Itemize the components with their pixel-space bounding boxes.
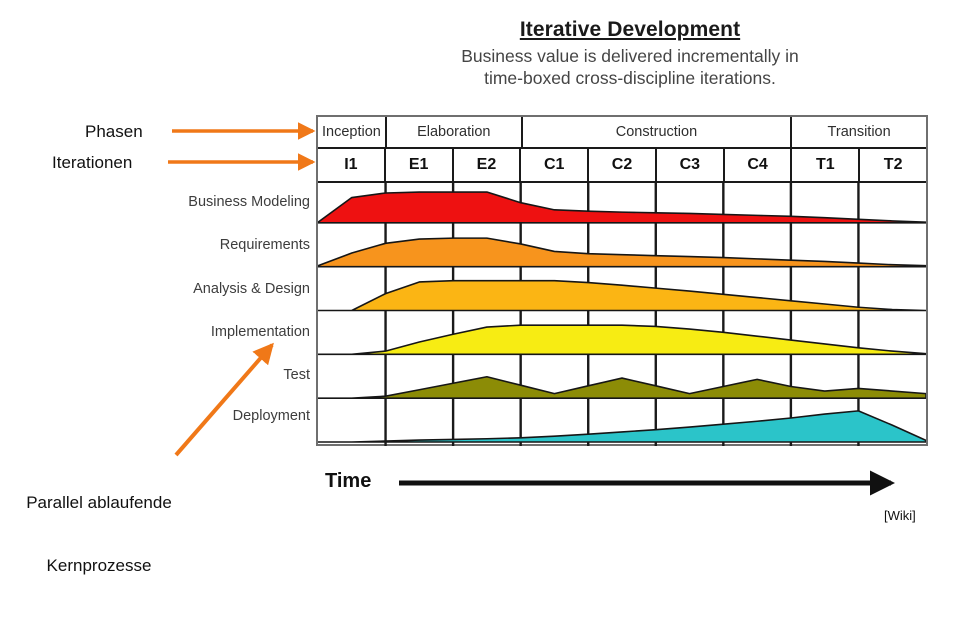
diagram-canvas: Iterative Development Business value is …: [0, 0, 957, 549]
discipline-label-column: Business Modeling Requirements Analysis …: [130, 0, 310, 549]
discipline-label-implementation: Implementation: [130, 324, 310, 340]
annotation-iterations-label: Iterationen: [52, 152, 132, 173]
iteration-cell-i1[interactable]: I1: [318, 149, 386, 181]
iteration-cell-c4[interactable]: C4: [725, 149, 793, 181]
discipline-label-requirements: Requirements: [130, 237, 310, 253]
discipline-label-test: Test: [130, 367, 310, 383]
iteration-cell-c2[interactable]: C2: [589, 149, 657, 181]
iteration-cell-t1[interactable]: T1: [792, 149, 860, 181]
phase-header-row: InceptionElaborationConstructionTransiti…: [318, 117, 926, 149]
area-band-implementation[interactable]: [318, 325, 926, 354]
discipline-areas-group: [318, 192, 926, 442]
iteration-header-row: I1E1E2C1C2C3C4T1T2: [318, 149, 926, 183]
page-title: Iterative Development: [310, 18, 950, 41]
area-band-requirements[interactable]: [318, 238, 926, 267]
subtitle-line-2: time-boxed cross-discipline iterations.: [310, 67, 950, 89]
workflow-plot-area: [318, 183, 926, 446]
iteration-cell-c3[interactable]: C3: [657, 149, 725, 181]
discipline-label-deployment: Deployment: [130, 408, 310, 424]
iteration-cell-e2[interactable]: E2: [454, 149, 522, 181]
phase-cell-elaboration[interactable]: Elaboration: [387, 117, 523, 147]
discipline-label-business-modeling: Business Modeling: [130, 194, 310, 210]
source-credit: [Wiki]: [884, 508, 916, 523]
phase-cell-inception[interactable]: Inception: [318, 117, 387, 147]
time-axis-label: Time: [325, 470, 371, 493]
iteration-chart-frame: InceptionElaborationConstructionTransiti…: [316, 115, 928, 446]
iteration-cell-c1[interactable]: C1: [521, 149, 589, 181]
phase-cell-construction[interactable]: Construction: [523, 117, 793, 147]
area-band-analysis-design[interactable]: [318, 281, 926, 311]
area-band-deployment[interactable]: [318, 411, 926, 442]
subtitle-line-1: Business value is delivered incrementall…: [310, 45, 950, 67]
heading-block: Iterative Development Business value is …: [310, 18, 950, 90]
area-band-test[interactable]: [318, 377, 926, 398]
phase-cell-transition[interactable]: Transition: [792, 117, 926, 147]
workflow-areas-svg: [318, 183, 926, 446]
discipline-label-analysis-design: Analysis & Design: [130, 281, 310, 297]
iteration-cell-e1[interactable]: E1: [386, 149, 454, 181]
area-band-business-modeling[interactable]: [318, 192, 926, 223]
time-axis-arrow-icon: [395, 468, 915, 498]
core-processes-line-2: Kernprozesse: [4, 555, 194, 576]
page-subtitle: Business value is delivered incrementall…: [310, 45, 950, 90]
iteration-cell-t2[interactable]: T2: [860, 149, 926, 181]
